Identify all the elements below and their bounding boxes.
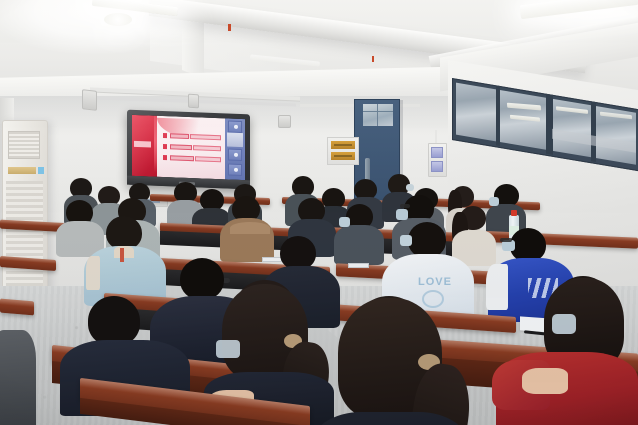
face-mask bbox=[339, 217, 350, 227]
door-window-mullion-v bbox=[377, 104, 378, 126]
table-row bbox=[0, 299, 34, 316]
tool-button-1-icon[interactable] bbox=[228, 121, 242, 134]
slide-tool-sidebar[interactable] bbox=[225, 118, 245, 180]
wall-mounted-presentation-screen[interactable] bbox=[127, 110, 250, 190]
slide-row-field-3b bbox=[195, 156, 221, 162]
ac-brand-label bbox=[8, 167, 36, 174]
switch-panel-conduit bbox=[435, 130, 437, 144]
wall-switch-2[interactable] bbox=[431, 161, 443, 172]
wall-speaker-left bbox=[82, 89, 97, 111]
desk-number-tag bbox=[348, 263, 369, 268]
classroom-photo: LOVE bbox=[0, 0, 638, 425]
ceiling-hanger-left bbox=[228, 24, 231, 31]
window-mullion-3 bbox=[591, 101, 596, 162]
plaque-row-1 bbox=[331, 141, 355, 149]
wall-switch-panel[interactable] bbox=[428, 143, 447, 177]
face-mask bbox=[400, 235, 412, 246]
ac-display-led bbox=[38, 167, 44, 174]
face-mask bbox=[406, 184, 414, 191]
light-glare-bulb bbox=[104, 13, 132, 26]
slide-row-marker-3 bbox=[163, 155, 167, 160]
door-window-mullion-h bbox=[363, 111, 393, 112]
wall-speaker-center-left bbox=[188, 94, 199, 109]
slide-row-field-1a bbox=[170, 133, 189, 139]
ceiling-hanger-right bbox=[372, 56, 374, 62]
slide-row-marker-2 bbox=[163, 144, 167, 149]
wall-speaker-center bbox=[278, 115, 291, 128]
plaque-row-2 bbox=[331, 152, 355, 160]
jacket-graphic-shape bbox=[422, 290, 444, 308]
window-pane-1 bbox=[456, 83, 496, 142]
hood bbox=[230, 222, 270, 234]
face-mask bbox=[216, 340, 240, 358]
window-mullion-1 bbox=[496, 85, 500, 146]
sleeve bbox=[86, 256, 100, 290]
glasses bbox=[400, 204, 410, 208]
jacket-sleeve-white bbox=[486, 264, 508, 310]
floor-standing-air-conditioner bbox=[2, 120, 48, 302]
desk-number-tag bbox=[262, 257, 282, 262]
tool-button-3-icon[interactable] bbox=[228, 164, 242, 177]
face-mask bbox=[396, 209, 408, 220]
window-mullion-2 bbox=[546, 94, 553, 155]
slide-row-field-2b bbox=[193, 145, 221, 151]
slide-row-marker-1 bbox=[163, 133, 167, 138]
face-mask bbox=[489, 197, 499, 206]
collar bbox=[114, 246, 134, 258]
face-mask bbox=[552, 314, 576, 334]
jacket-graphic-text: LOVE bbox=[418, 276, 452, 288]
wall-switch-1[interactable] bbox=[431, 147, 443, 158]
screen-surface bbox=[132, 115, 245, 180]
slide-row-field-3a bbox=[170, 155, 194, 161]
bottle-cap bbox=[511, 210, 517, 216]
tool-button-2-icon[interactable] bbox=[228, 149, 242, 162]
wall-plaque-sign bbox=[327, 137, 359, 165]
slide-side-tag bbox=[134, 141, 151, 148]
hands bbox=[522, 368, 568, 394]
lanyard bbox=[120, 248, 124, 262]
ac-top-grille bbox=[8, 131, 40, 159]
ac-lower-grille bbox=[6, 181, 43, 293]
door-window bbox=[363, 104, 393, 126]
glasses bbox=[500, 238, 512, 242]
slide-row-field-2a bbox=[170, 144, 192, 150]
sidebar-thumbnail[interactable] bbox=[227, 132, 243, 147]
